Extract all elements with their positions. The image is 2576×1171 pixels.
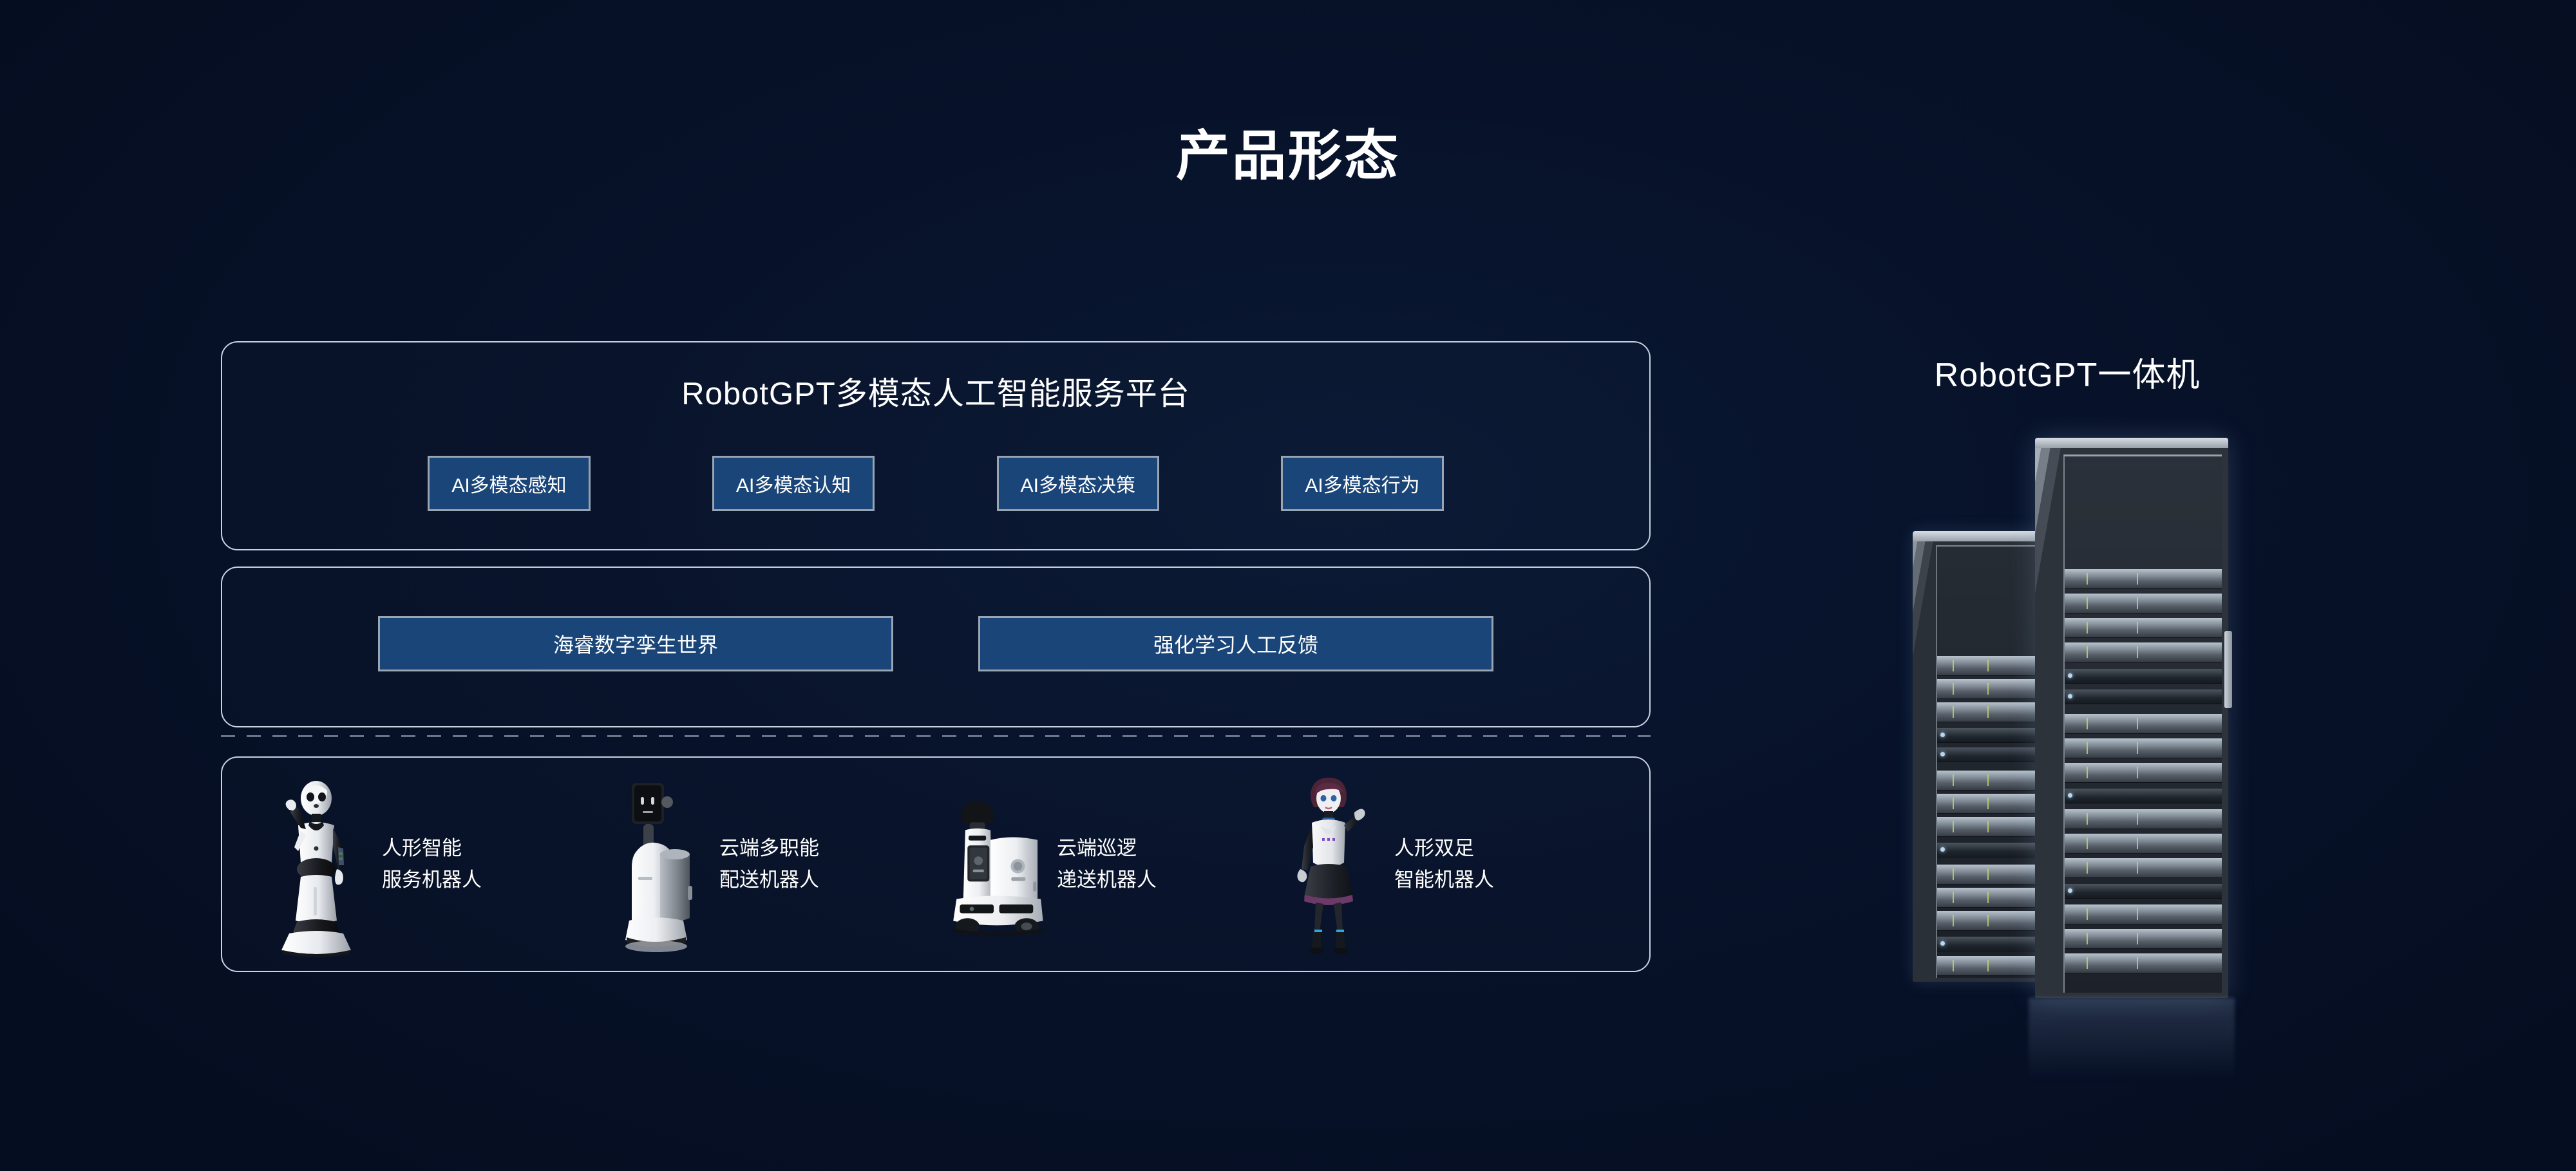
bar-digital-twin-world[interactable]: 海睿数字孪生世界 [378, 616, 893, 671]
list-item-label: 人形双足 智能机器人 [1394, 833, 1494, 895]
server-blade [2065, 714, 2222, 734]
server-blade [2065, 618, 2222, 638]
server-blade [1937, 843, 2046, 857]
robot-list: 人形智能 服务机器人 [222, 758, 1649, 971]
server-blade [2065, 738, 2222, 758]
chip-ai-cognition[interactable]: AI多模态认知 [712, 456, 875, 511]
server-blade [2065, 884, 2222, 899]
server-blade [2065, 809, 2222, 829]
list-item-label: 人形智能 服务机器人 [382, 833, 482, 895]
server-rack-secondary [1913, 531, 2051, 982]
server-blade [1937, 865, 2046, 885]
server-blade [2065, 789, 2222, 803]
server-blade [2065, 594, 2222, 614]
server-blade [1937, 888, 2046, 908]
rack-floor-reflection [2029, 998, 2235, 1082]
list-item[interactable]: 人形双足 智能机器人 [1273, 758, 1611, 971]
chip-ai-decision[interactable]: AI多模态决策 [997, 456, 1159, 511]
server-blade [1937, 937, 2046, 951]
rack-interior [1936, 545, 2046, 978]
robot-label-line1: 云端多职能 [719, 833, 819, 864]
robot-label-line2: 递送机器人 [1057, 865, 1157, 895]
server-blade [1937, 728, 2046, 743]
slide-background: 产品形态 RobotGPT多模态人工智能服务平台 AI多模态感知 AI多模态认知… [0, 0, 2576, 1171]
server-rack-primary [2035, 438, 2228, 998]
server-blade [1937, 794, 2046, 814]
server-blade [2065, 669, 2222, 684]
page-title: 产品形态 [0, 113, 2576, 191]
server-blade [1937, 911, 2046, 931]
server-blade [2065, 763, 2222, 783]
server-blade [1937, 817, 2046, 837]
appliance-title: RobotGPT一体机 [1777, 348, 2357, 396]
server-rack-icon [1906, 418, 2254, 1030]
server-blade [1937, 956, 2046, 976]
list-item-label: 云端多职能 配送机器人 [719, 833, 819, 895]
bar-rlhf[interactable]: 强化学习人工反馈 [978, 616, 1493, 671]
rack-top-cap [2035, 438, 2228, 448]
server-blade [1937, 747, 2046, 762]
list-item[interactable]: 人形智能 服务机器人 [261, 758, 598, 971]
robot-label-line1: 云端巡逻 [1057, 833, 1157, 864]
list-item[interactable]: 云端多职能 配送机器人 [598, 758, 936, 971]
robot-label-line2: 服务机器人 [382, 865, 482, 895]
server-blade [2065, 929, 2222, 949]
server-blade [1937, 702, 2046, 722]
server-blade [1937, 679, 2046, 699]
server-blade [2065, 858, 2222, 878]
platform-capability-chip-row: AI多模态感知 AI多模态认知 AI多模态决策 AI多模态行为 [222, 456, 1649, 511]
rack-interior [2063, 454, 2222, 993]
server-blade [2065, 569, 2222, 589]
robot-label-line1: 人形双足 [1394, 833, 1494, 864]
robots-panel: 人形智能 服务机器人 [221, 756, 1651, 972]
server-blade [1937, 771, 2046, 791]
platform-panel: RobotGPT多模态人工智能服务平台 AI多模态感知 AI多模态认知 AI多模… [221, 341, 1651, 550]
robot-label-line2: 智能机器人 [1394, 865, 1494, 895]
cloud-patrol-robot-icon [936, 771, 1045, 958]
robot-label-line2: 配送机器人 [719, 865, 819, 895]
robot-label-line1: 人形智能 [382, 833, 482, 864]
list-item-label: 云端巡逻 递送机器人 [1057, 833, 1157, 895]
humanoid-service-robot-icon [261, 771, 370, 958]
chip-ai-behavior[interactable]: AI多模态行为 [1281, 456, 1443, 511]
server-blade [2065, 904, 2222, 924]
server-blade [2065, 642, 2222, 662]
server-blade [2065, 689, 2222, 704]
server-blade [1937, 656, 2046, 676]
server-blade [2065, 953, 2222, 973]
biped-humanoid-robot-icon [1273, 771, 1383, 958]
server-blade [2065, 834, 2222, 854]
list-item[interactable]: 云端巡逻 递送机器人 [936, 758, 1273, 971]
section-divider [221, 735, 1651, 737]
platform-panel-title: RobotGPT多模态人工智能服务平台 [222, 368, 1649, 414]
engine-bar-row: 海睿数字孪生世界 强化学习人工反馈 [222, 616, 1649, 671]
chip-ai-perception[interactable]: AI多模态感知 [428, 456, 590, 511]
engine-panel: 海睿数字孪生世界 强化学习人工反馈 [221, 567, 1651, 727]
rack-door-handle[interactable] [2224, 631, 2232, 708]
cloud-delivery-robot-icon [598, 771, 708, 958]
rack-top-cap [1913, 531, 2051, 541]
